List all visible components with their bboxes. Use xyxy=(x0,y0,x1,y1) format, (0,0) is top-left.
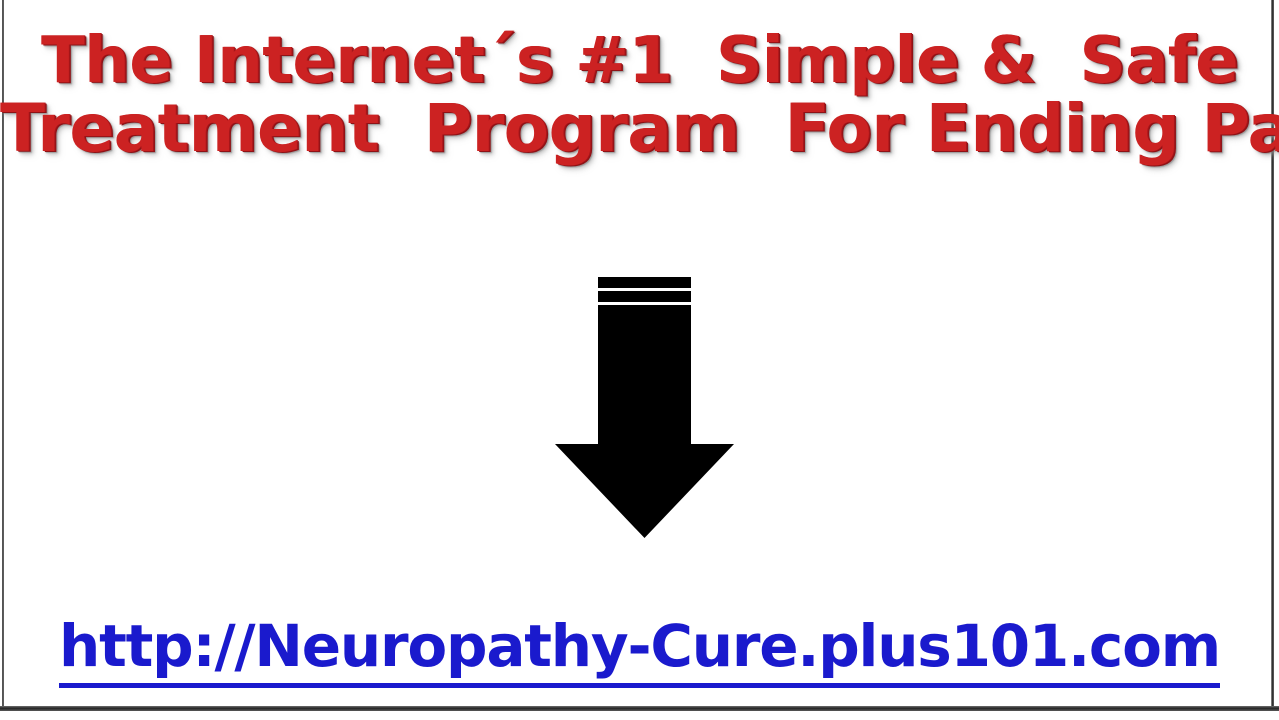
headline: The Internet´s #1 Simple & Safe Treatmen… xyxy=(0,30,1279,161)
down-arrow-graphic xyxy=(548,272,742,548)
frame-bottom-fill xyxy=(0,711,1279,720)
headline-line-1: The Internet´s #1 Simple & Safe xyxy=(0,30,1279,93)
website-link[interactable]: http://Neuropathy-Cure.plus101.com xyxy=(59,612,1220,688)
slide-canvas: The Internet´s #1 Simple & Safe Treatmen… xyxy=(0,0,1279,720)
url-container: http://Neuropathy-Cure.plus101.com xyxy=(0,612,1279,688)
headline-line-2: Treatment Program For Ending Pain xyxy=(0,97,1279,162)
down-arrow-icon xyxy=(548,272,742,548)
